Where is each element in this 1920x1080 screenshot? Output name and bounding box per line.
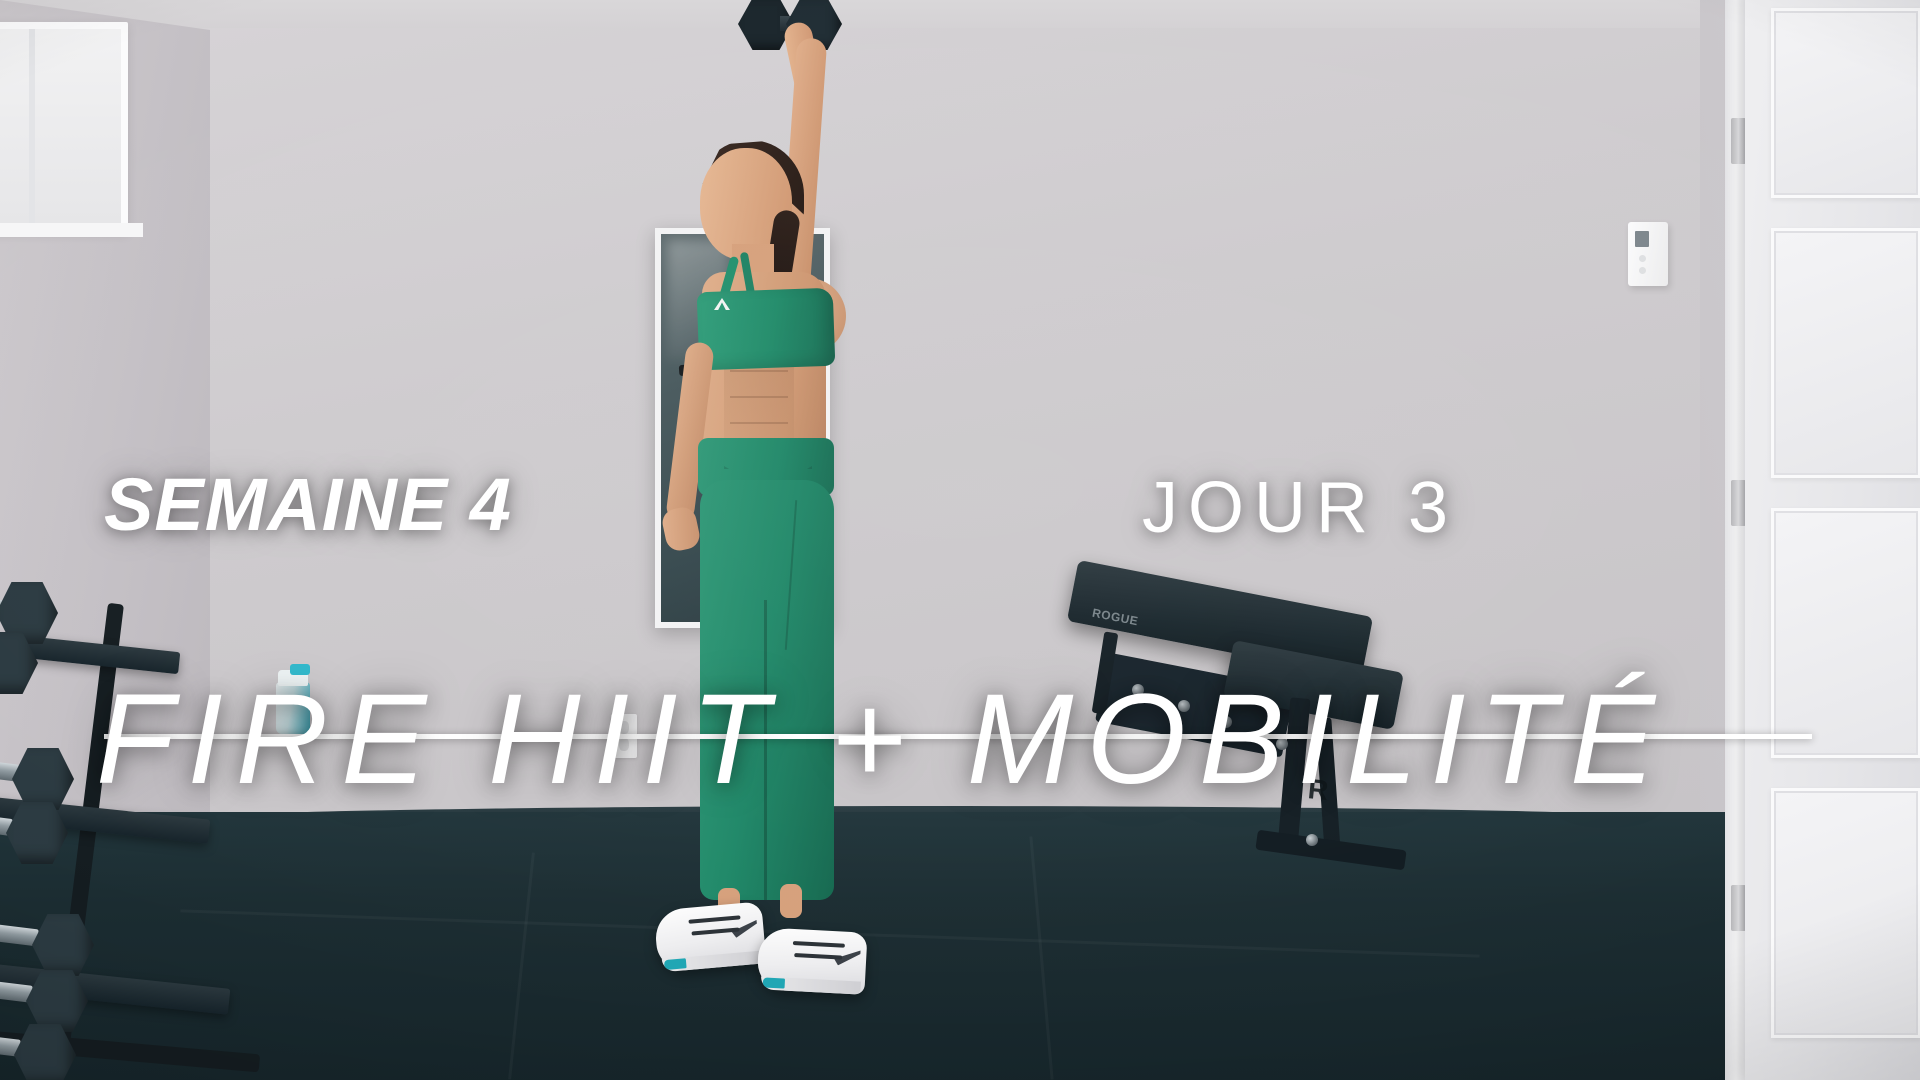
text-overlay: SEMAINE 4 JOUR 3 FIRE HIIT + MOBILITÉ [0,0,1920,1080]
workout-title: FIRE HIIT + MOBILITÉ [96,676,1668,804]
screenshot-frame: ROGUE R [0,0,1920,1080]
day-label: JOUR 3 [1142,472,1458,544]
week-label: SEMAINE 4 [104,468,512,542]
